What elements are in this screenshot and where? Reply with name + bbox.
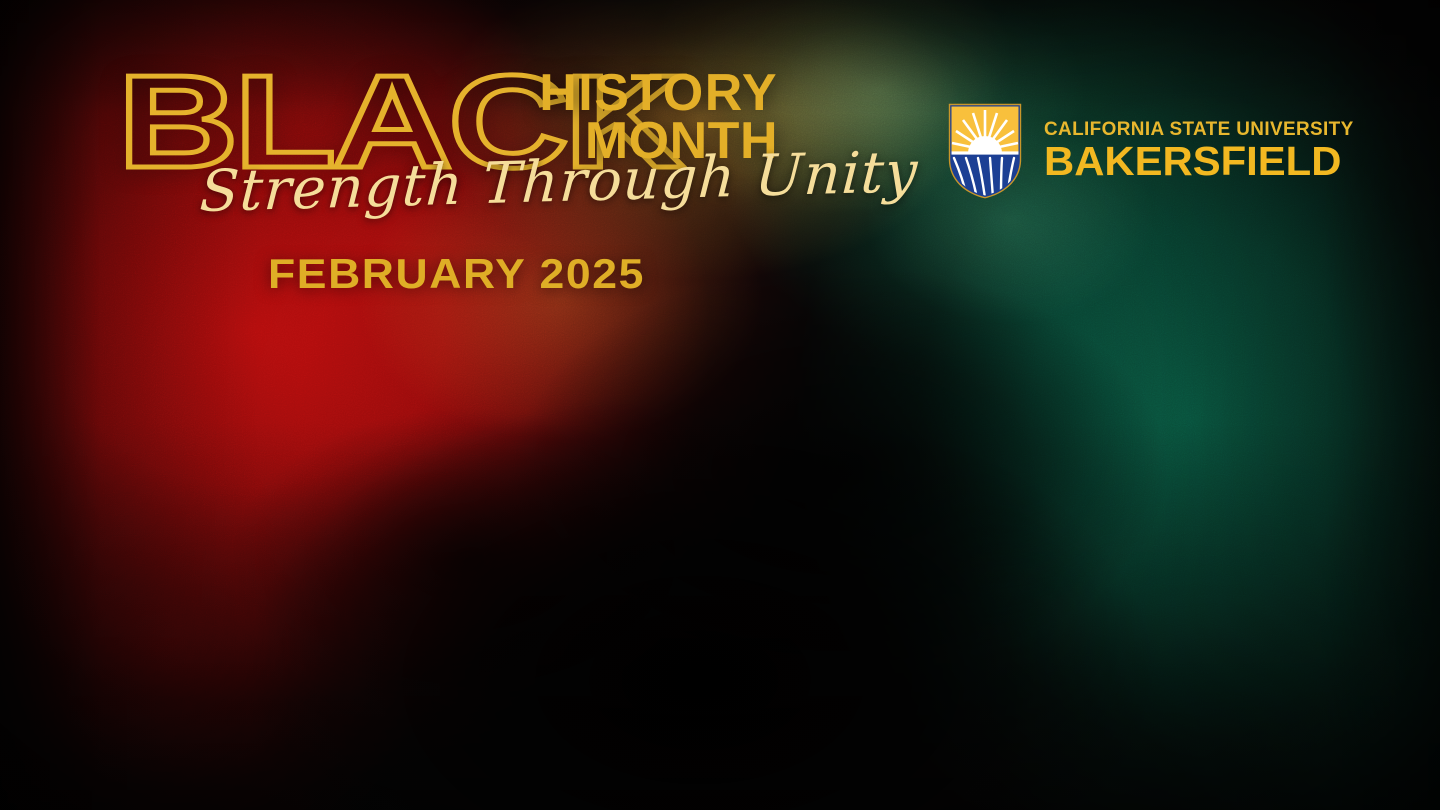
csub-logo-lockup: CALIFORNIA STATE UNIVERSITY BAKERSFIELD — [948, 103, 1363, 199]
headline-tagline: Strength Through Unity — [198, 144, 919, 221]
black-history-month-poster: BLACK HISTORY MONTH Strength Through Uni… — [0, 0, 1440, 810]
csub-wordmark: CALIFORNIA STATE UNIVERSITY BAKERSFIELD — [1044, 119, 1363, 182]
csub-shield-icon — [948, 103, 1022, 199]
headline-block: BLACK HISTORY MONTH Strength Through Uni… — [118, 56, 778, 306]
csub-campus-line: BAKERSFIELD — [1044, 141, 1370, 183]
headline-history-line: HISTORY — [539, 70, 778, 118]
headline-date: FEBRUARY 2025 — [268, 250, 645, 298]
csub-university-line: CALIFORNIA STATE UNIVERSITY — [1044, 119, 1354, 139]
